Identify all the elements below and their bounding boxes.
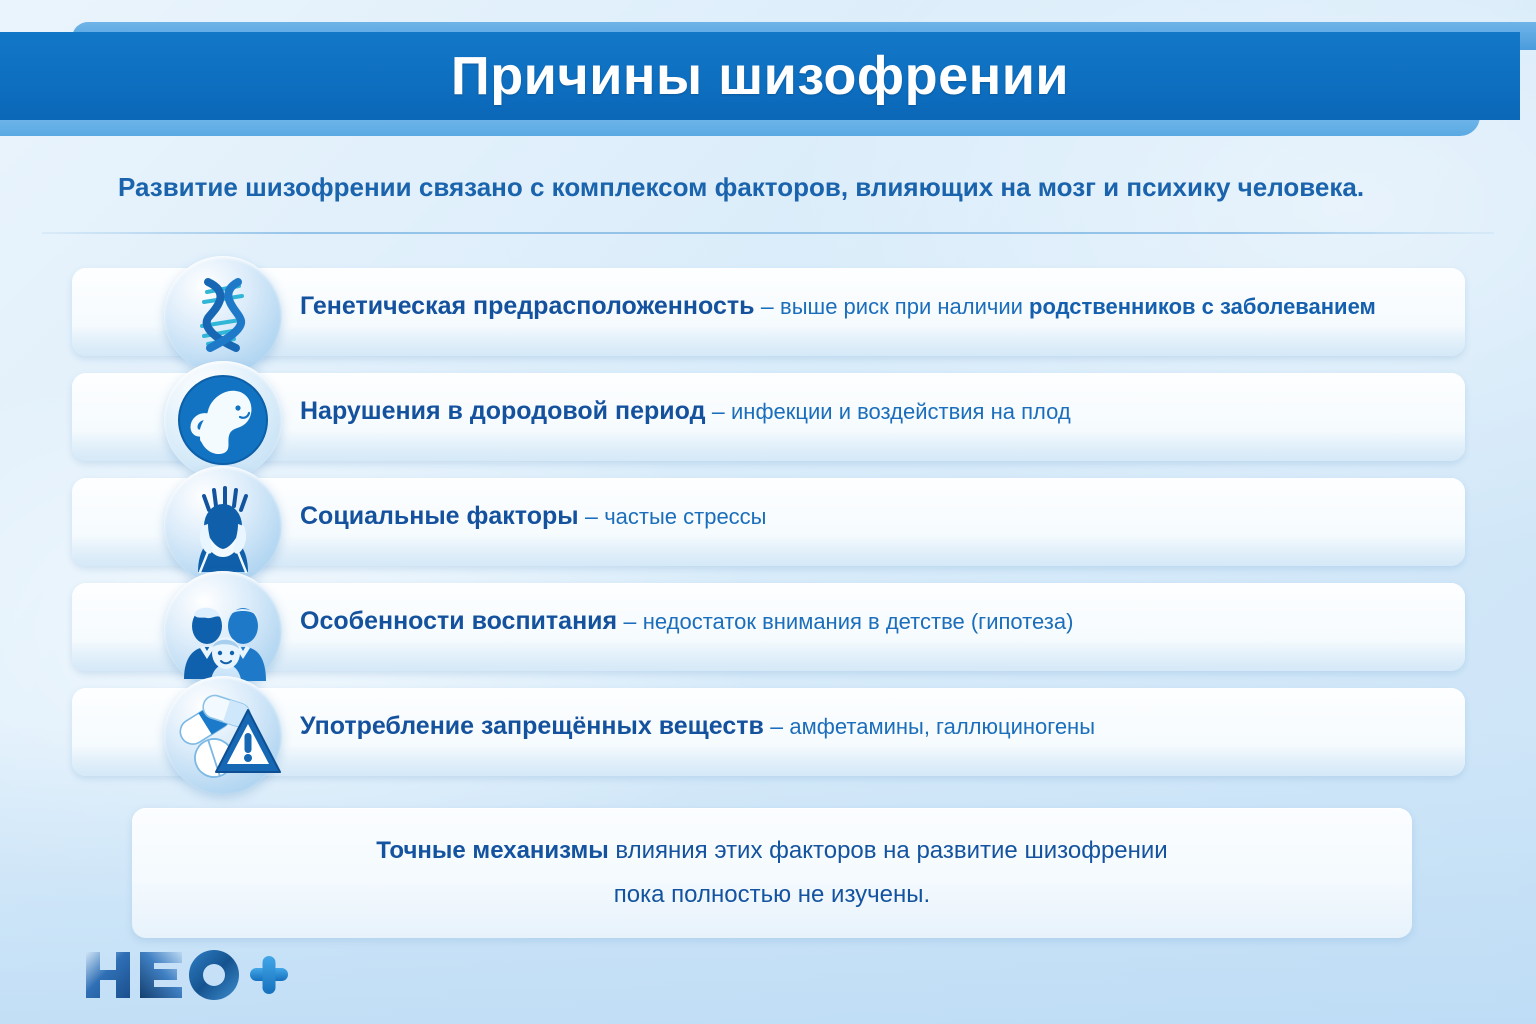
row-desc: частые стрессы [604,504,766,529]
row-icon [164,676,282,794]
neo-plus-logo [82,946,292,1004]
row-text: Употребление запрещённых веществ – амфет… [300,712,1450,741]
header-banner: Причины шизофрении [0,0,1536,140]
row-icon [164,256,282,374]
row-text: Особенности воспитания – недостаток вним… [300,607,1450,636]
note-emphasis: Точные механизмы [376,837,608,864]
row-dash: – [764,713,790,739]
note-line-1: Точные механизмы влияния этих факторов н… [376,837,1167,865]
list-item[interactable]: Употребление запрещённых веществ – амфет… [0,684,1536,789]
row-title: Генетическая предрасположенность [300,292,754,320]
row-icon [164,361,282,479]
row-dash: – [705,398,731,424]
row-desc: выше риск при наличии [780,294,1029,319]
stressed-person-icon [164,466,282,584]
row-icon [164,466,282,584]
row-desc: амфетамины, галлюциногены [789,714,1095,739]
header-banner-bar: Причины шизофрении [0,32,1520,120]
list-item[interactable]: Социальные факторы – частые стрессы [0,474,1536,579]
page-title: Причины шизофрении [451,45,1069,107]
dna-helix-icon [164,256,282,374]
note-line-2: пока полностью не изучены. [614,881,930,909]
row-dash: – [617,608,643,634]
row-desc: недостаток внимания в детстве (гипотеза) [643,609,1074,634]
conclusion-note: Точные механизмы влияния этих факторов н… [132,808,1412,938]
row-title: Нарушения в дородовой период [300,397,705,425]
subtitle-divider [42,232,1494,234]
row-desc-strong: родственников с заболеванием [1029,294,1376,319]
row-text: Социальные факторы – частые стрессы [300,502,1450,531]
pills-warning-icon [164,676,282,794]
row-title: Особенности воспитания [300,607,617,635]
note-line-1-rest: влияния этих факторов на развитие шизофр… [609,837,1168,864]
list-item[interactable]: Особенности воспитания – недостаток вним… [0,579,1536,684]
row-title: Употребление запрещённых веществ [300,712,764,740]
row-dash: – [579,503,605,529]
row-text: Нарушения в дородовой период – инфекции … [300,397,1450,426]
list-item[interactable]: Генетическая предрасположенность – выше … [0,264,1536,369]
row-title: Социальные факторы [300,502,579,530]
subtitle-text: Развитие шизофрении связано с комплексом… [118,172,1418,203]
list-item[interactable]: Нарушения в дородовой период – инфекции … [0,369,1536,474]
row-dash: – [754,293,780,319]
fetus-icon [164,361,282,479]
row-icon [164,571,282,689]
factor-list: Генетическая предрасположенность – выше … [0,264,1536,789]
family-icon [164,571,282,689]
row-desc: инфекции и воздействия на плод [731,399,1071,424]
row-text: Генетическая предрасположенность – выше … [300,292,1450,321]
